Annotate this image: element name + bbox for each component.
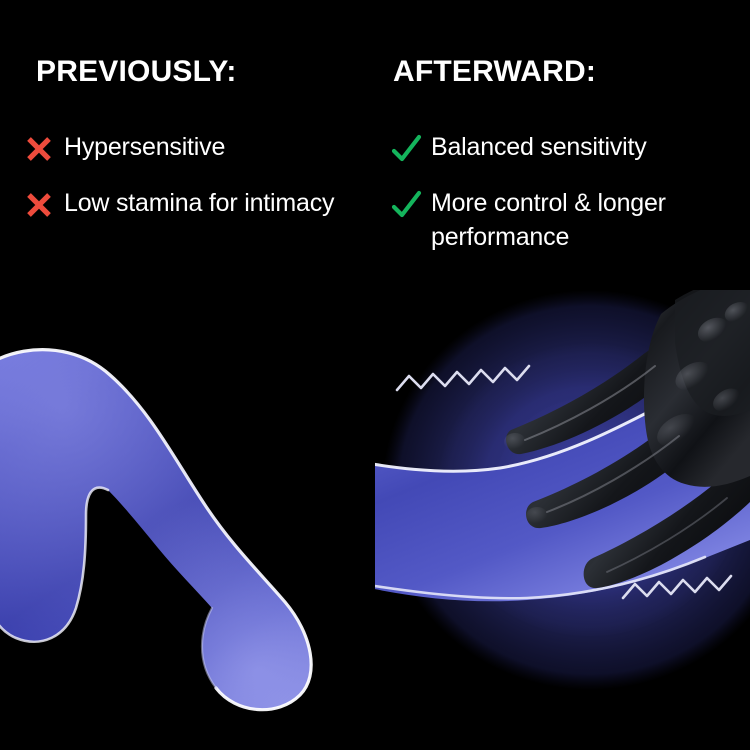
- drooping-shaft-illustration: [0, 290, 375, 750]
- check-icon: [389, 188, 423, 222]
- bullet-list-afterward: Balanced sensitivity More control & long…: [389, 130, 749, 274]
- bullet-list-previously: Hypersensitive Low stamina for intimacy: [22, 130, 372, 242]
- list-item-label: Hypersensitive: [64, 130, 225, 164]
- illustration-afterward: [375, 290, 750, 750]
- cross-icon: [22, 132, 56, 166]
- column-title-afterward: AFTERWARD:: [393, 55, 596, 89]
- illustration-previously: [0, 290, 375, 750]
- column-previously: PREVIOUSLY: Hypersensitive Low stamina f…: [0, 0, 375, 300]
- cross-icon: [22, 188, 56, 222]
- device-sleeve-illustration: [375, 290, 750, 750]
- list-item: More control & longer performance: [389, 186, 749, 254]
- list-item-label: More control & longer performance: [431, 186, 749, 254]
- comparison-graphic: PREVIOUSLY: Hypersensitive Low stamina f…: [0, 0, 750, 750]
- list-item: Low stamina for intimacy: [22, 186, 372, 222]
- list-item: Hypersensitive: [22, 130, 372, 166]
- list-item-label: Low stamina for intimacy: [64, 186, 334, 220]
- list-item-label: Balanced sensitivity: [431, 130, 647, 164]
- column-title-previously: PREVIOUSLY:: [36, 55, 237, 89]
- column-afterward: AFTERWARD: Balanced sensitivity More con…: [375, 0, 750, 300]
- check-icon: [389, 132, 423, 166]
- list-item: Balanced sensitivity: [389, 130, 749, 166]
